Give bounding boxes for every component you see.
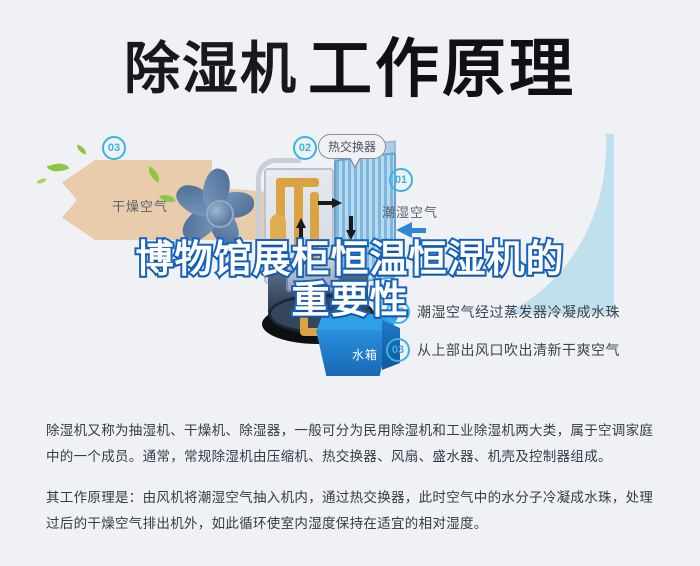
article-body: 除湿机又称为抽湿机、干燥机、除湿器，一般可分为民用除湿机和工业除湿机两大类，属于…	[46, 418, 658, 551]
legend-badge-03: 03	[386, 338, 410, 362]
compressor-unit	[286, 258, 340, 292]
flow-arrow-down-tail	[349, 216, 353, 230]
flow-arrow-up-tail	[299, 228, 303, 242]
legend-text-03: 从上部出风口吹出清新干爽空气	[417, 340, 620, 360]
flow-arrow-up-icon	[296, 218, 306, 228]
heat-exchanger-callout: 热交换器	[318, 134, 386, 159]
dehumidifier-diagram: 水箱 03 02 01 热交换器 干燥空气 潮湿空气 02 潮湿空气经过蒸发器冷…	[0, 118, 700, 408]
leaf-icon	[36, 176, 46, 187]
dry-air-label: 干燥空气	[112, 196, 168, 215]
leaf-icon	[47, 158, 70, 176]
legend-row: 03 从上部出风口吹出清新干爽空气	[386, 338, 686, 362]
refrigerant-reservoir	[270, 214, 286, 260]
diagram-legend: 02 潮湿空气经过蒸发器冷凝成水珠 03 从上部出风口吹出清新干爽空气	[386, 300, 686, 376]
air-intake-arrow-tail	[410, 228, 426, 233]
fan-icon	[172, 162, 268, 254]
callout-badge-03: 03	[102, 136, 126, 160]
fan-hub	[206, 200, 234, 228]
water-tank-label: 水箱	[352, 346, 378, 363]
page-title: 除湿机 工作原理	[0, 26, 700, 112]
flow-arrow-right-tail	[318, 201, 332, 205]
page-title-part-1: 除湿机	[124, 41, 298, 97]
callout-badge-01: 01	[389, 168, 413, 192]
humid-air-flow-shape	[404, 134, 614, 314]
page-title-part-2: 工作原理	[308, 37, 576, 101]
poster-root: 除湿机 工作原理	[0, 0, 700, 566]
body-paragraph-1: 除湿机又称为抽湿机、干燥机、除湿器，一般可分为民用除湿机和工业除湿机两大类，属于…	[46, 418, 658, 471]
flow-arrow-down-icon	[346, 230, 356, 240]
humid-air-label: 潮湿空气	[382, 202, 438, 221]
leaf-icon	[75, 144, 88, 154]
legend-badge-02: 02	[386, 300, 410, 324]
callout-badge-02: 02	[293, 136, 317, 160]
legend-row: 02 潮湿空气经过蒸发器冷凝成水珠	[386, 300, 686, 324]
drain-pipe	[300, 280, 308, 334]
legend-text-02: 潮湿空气经过蒸发器冷凝成水珠	[417, 302, 620, 322]
flow-arrow-right-icon	[332, 198, 342, 208]
body-paragraph-2: 其工作原理是：由风机将潮湿空气抽入机内，通过热交换器，此时空气中的水分子冷凝成水…	[46, 485, 658, 538]
